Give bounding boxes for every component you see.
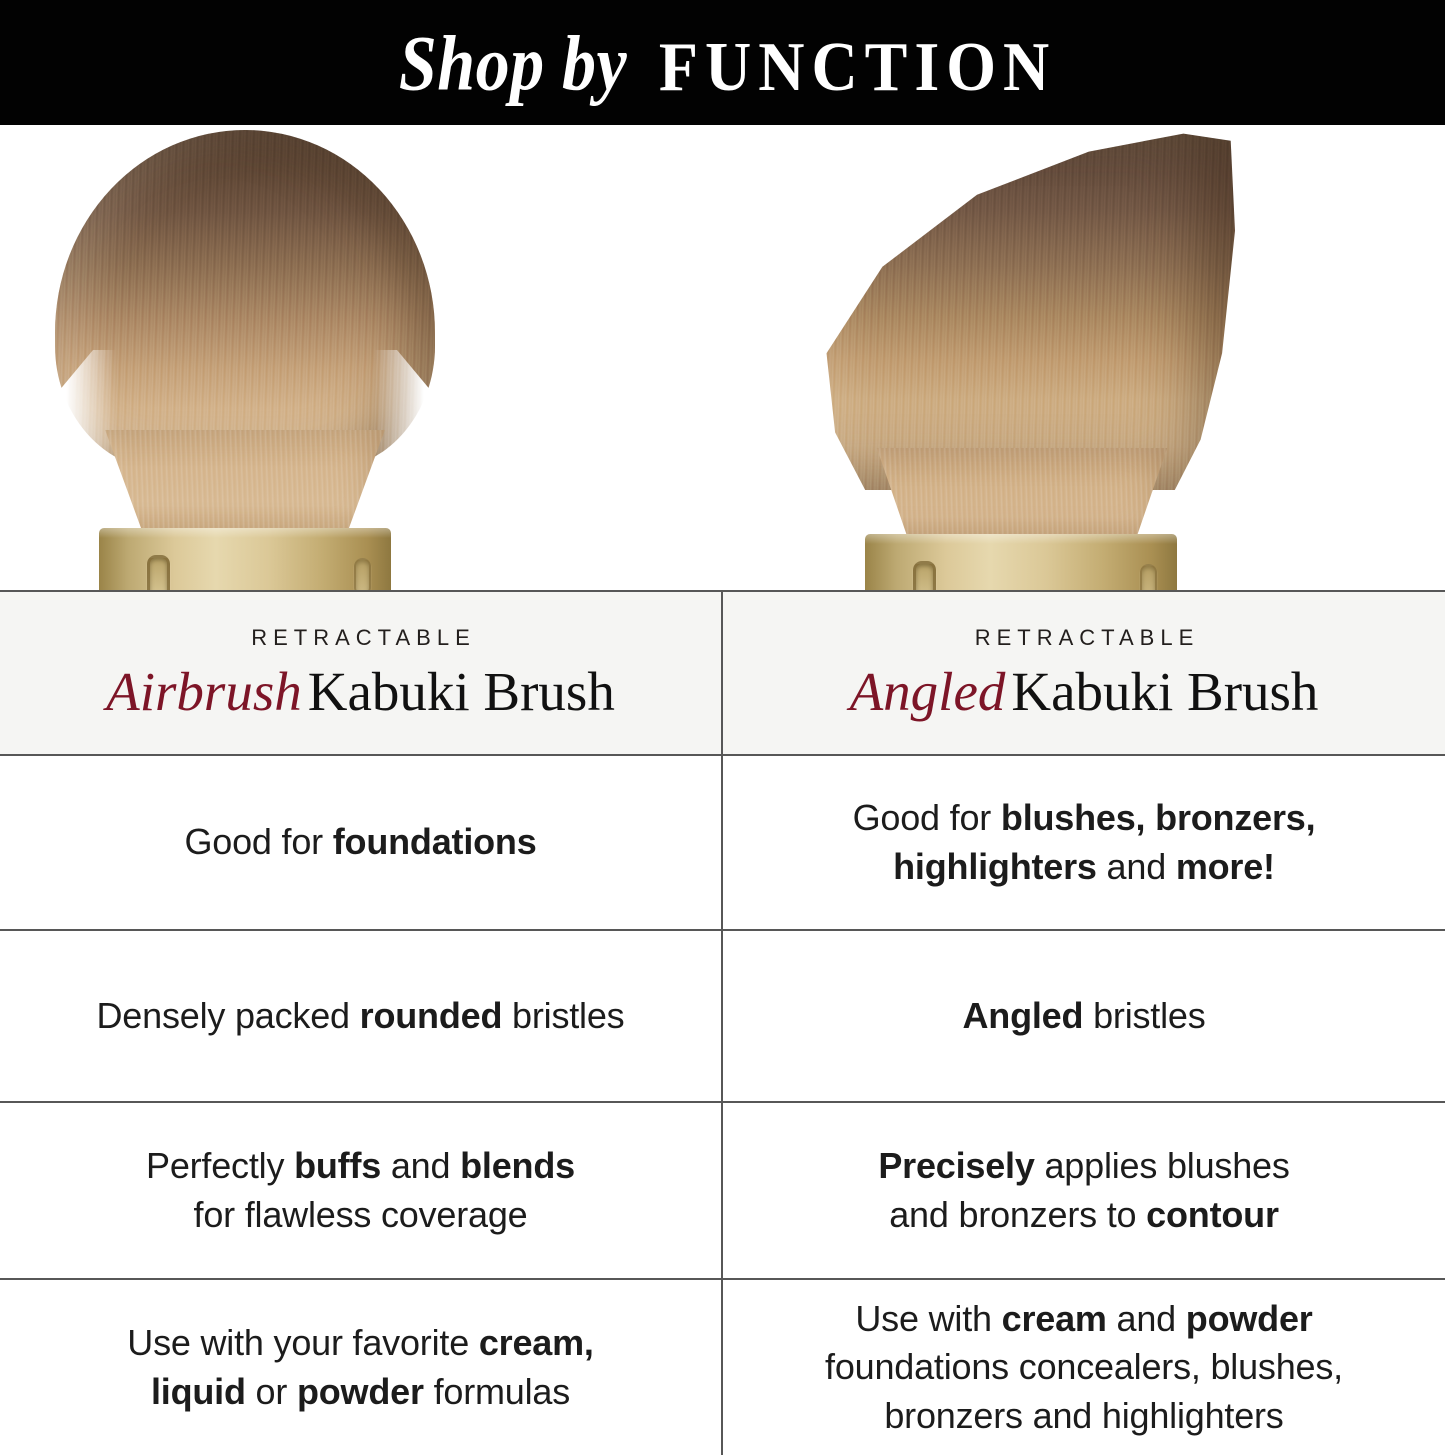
- bristle-striation-overlay: [55, 130, 435, 470]
- brush-bristle-skirt: [93, 430, 397, 538]
- page-title-bold: FUNCTION: [659, 26, 1056, 107]
- shop-by-function-comparison-page: Shop by FUNCTION: [0, 0, 1445, 1445]
- product-eyebrow-label: RETRACTABLE: [245, 625, 476, 651]
- angled-kabuki-brush-photo[interactable]: [723, 125, 1445, 590]
- feature-text: Densely packed rounded bristles: [97, 992, 625, 1040]
- feature-text: Good for blushes, bronzers,highlighters …: [853, 794, 1316, 890]
- feature-row-3: Perfectly buffs and blendsfor flawless c…: [0, 1101, 1445, 1278]
- product-name: AirbrushKabuki Brush: [106, 663, 615, 721]
- product-title-cell-angled[interactable]: RETRACTABLE AngledKabuki Brush: [723, 592, 1445, 754]
- feature-text: Perfectly buffs and blendsfor flawless c…: [146, 1142, 575, 1238]
- page-header-band: Shop by FUNCTION: [0, 0, 1445, 125]
- page-title-script: Shop by: [399, 19, 627, 109]
- product-name-rest: Kabuki Brush: [1011, 661, 1318, 722]
- product-eyebrow-label: RETRACTABLE: [969, 625, 1200, 651]
- comparison-table: RETRACTABLE AirbrushKabuki Brush RETRACT…: [0, 590, 1445, 1455]
- product-name-accent: Angled: [850, 661, 1012, 722]
- feature-text: Good for foundations: [184, 818, 536, 866]
- ferrule-slot-detail: [913, 561, 936, 590]
- bristle-striation-overlay-lower: [93, 430, 397, 538]
- feature-text: Precisely applies blushesand bronzers to…: [878, 1142, 1289, 1238]
- feature-cell-left: Perfectly buffs and blendsfor flawless c…: [0, 1103, 723, 1278]
- airbrush-kabuki-brush-photo[interactable]: [0, 125, 723, 590]
- feature-cell-right: Use with cream and powderfoundations con…: [723, 1280, 1445, 1455]
- brush-bristle-dome-angled: [805, 130, 1235, 490]
- brush-graphic-angled: [805, 130, 1235, 590]
- bristle-striation-overlay: [805, 130, 1235, 490]
- product-photo-row: [0, 125, 1445, 590]
- ferrule-side-nub-detail: [1140, 564, 1157, 590]
- brush-graphic-airbrush: [55, 130, 435, 590]
- product-name-accent: Airbrush: [106, 661, 308, 722]
- product-title-cell-airbrush[interactable]: RETRACTABLE AirbrushKabuki Brush: [0, 592, 723, 754]
- brush-bristle-skirt-angled: [857, 448, 1187, 544]
- product-title-row: RETRACTABLE AirbrushKabuki Brush RETRACT…: [0, 590, 1445, 754]
- feature-cell-right: Precisely applies blushesand bronzers to…: [723, 1103, 1445, 1278]
- feature-text: Use with cream and powderfoundations con…: [825, 1295, 1343, 1440]
- feature-cell-right: Angled bristles: [723, 931, 1445, 1101]
- brush-bristle-dome: [55, 130, 435, 470]
- feature-row-4: Use with your favorite cream,liquid or p…: [0, 1278, 1445, 1455]
- brush-gold-ferrule: [865, 534, 1177, 590]
- product-name: AngledKabuki Brush: [850, 663, 1319, 721]
- product-name-rest: Kabuki Brush: [308, 661, 615, 722]
- ferrule-side-nub-detail: [354, 558, 371, 590]
- brush-gold-ferrule: [99, 528, 391, 590]
- ferrule-slot-detail: [147, 555, 170, 590]
- feature-row-2: Densely packed rounded bristles Angled b…: [0, 929, 1445, 1101]
- feature-row-1: Good for foundations Good for blushes, b…: [0, 754, 1445, 929]
- feature-cell-left: Use with your favorite cream,liquid or p…: [0, 1280, 723, 1455]
- feature-text: Use with your favorite cream,liquid or p…: [127, 1319, 593, 1415]
- feature-text: Angled bristles: [962, 992, 1205, 1040]
- feature-cell-right: Good for blushes, bronzers,highlighters …: [723, 756, 1445, 929]
- bristle-striation-overlay-lower: [857, 448, 1187, 544]
- feature-cell-left: Good for foundations: [0, 756, 723, 929]
- feature-cell-left: Densely packed rounded bristles: [0, 931, 723, 1101]
- page-title: Shop by FUNCTION: [389, 22, 1057, 107]
